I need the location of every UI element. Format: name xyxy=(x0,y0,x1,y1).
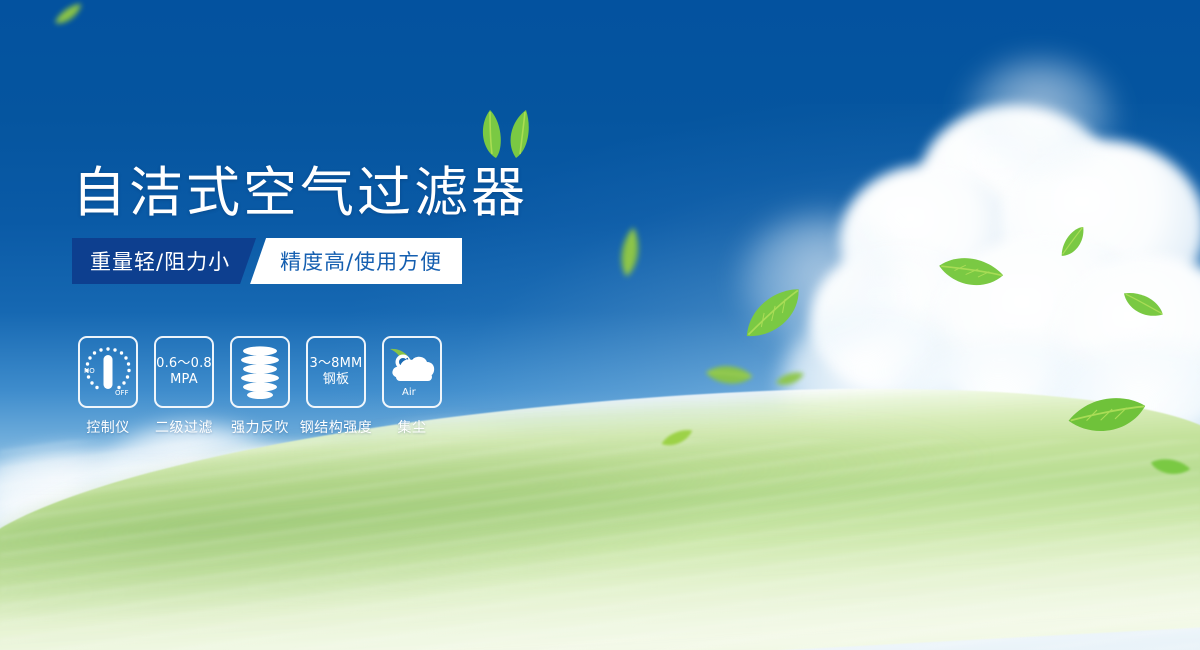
tagline-badge-primary: 重量轻/阻力小 xyxy=(72,238,256,284)
pressure-unit: MPA xyxy=(156,372,212,388)
feature-item: 0.6〜0.8 MPA 二级过滤 xyxy=(146,336,222,437)
feature-label: 控制仪 xyxy=(70,417,146,437)
tagline-badges: 重量轻/阻力小 精度高/使用方便 xyxy=(72,238,462,284)
feature-item: 强力反吹 xyxy=(222,336,298,437)
svg-text:Air: Air xyxy=(402,387,417,398)
steel-thickness: 3〜8MM xyxy=(310,356,363,372)
cloud-air-icon: Air xyxy=(382,336,442,408)
hero-banner: 自洁式空气过滤器 重量轻/阻力小 精度高/使用方便 xyxy=(0,0,1200,650)
feature-item: Air 集尘 xyxy=(374,336,450,437)
svg-text:NO: NO xyxy=(84,367,95,375)
pressure-text-icon: 0.6〜0.8 MPA xyxy=(154,336,214,408)
steel-material: 钢板 xyxy=(310,372,363,388)
steel-plate-text-icon: 3〜8MM 钢板 xyxy=(306,336,366,408)
feature-label: 强力反吹 xyxy=(222,417,298,437)
feature-item: NO OFF 控制仪 xyxy=(70,336,146,437)
banner-content: 自洁式空气过滤器 重量轻/阻力小 精度高/使用方便 xyxy=(0,0,1200,650)
gauge-dial-icon: NO OFF xyxy=(78,336,138,408)
feature-list: NO OFF 控制仪 0.6〜0.8 MPA 二级过滤 xyxy=(70,336,450,437)
svg-text:OFF: OFF xyxy=(115,389,129,397)
page-title: 自洁式空气过滤器 xyxy=(72,148,528,227)
tagline-badge-secondary: 精度高/使用方便 xyxy=(250,238,462,284)
filter-cartridge-icon xyxy=(230,336,290,408)
pressure-range: 0.6〜0.8 xyxy=(156,356,212,372)
feature-label: 钢结构强度 xyxy=(298,417,374,437)
feature-label: 集尘 xyxy=(374,417,450,437)
feature-label: 二级过滤 xyxy=(146,417,222,437)
feature-item: 3〜8MM 钢板 钢结构强度 xyxy=(298,336,374,437)
